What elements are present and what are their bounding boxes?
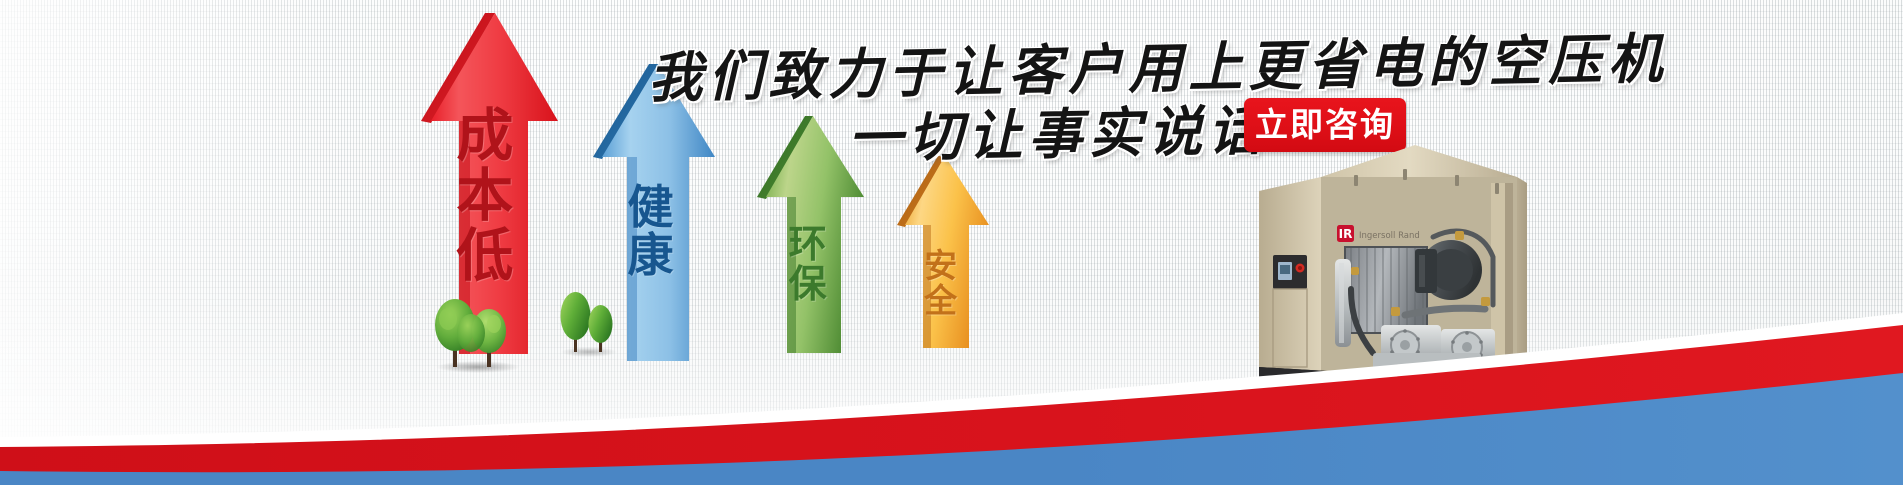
promo-banner: 成 本 低 健 康 (0, 0, 1903, 485)
svg-text:Ingersoll Rand: Ingersoll Rand (1359, 231, 1420, 241)
bottom-wave-decoration (0, 285, 1903, 485)
headline-line-2: 一切让事实说话 (847, 86, 1268, 173)
svg-text:IR: IR (1339, 227, 1353, 241)
